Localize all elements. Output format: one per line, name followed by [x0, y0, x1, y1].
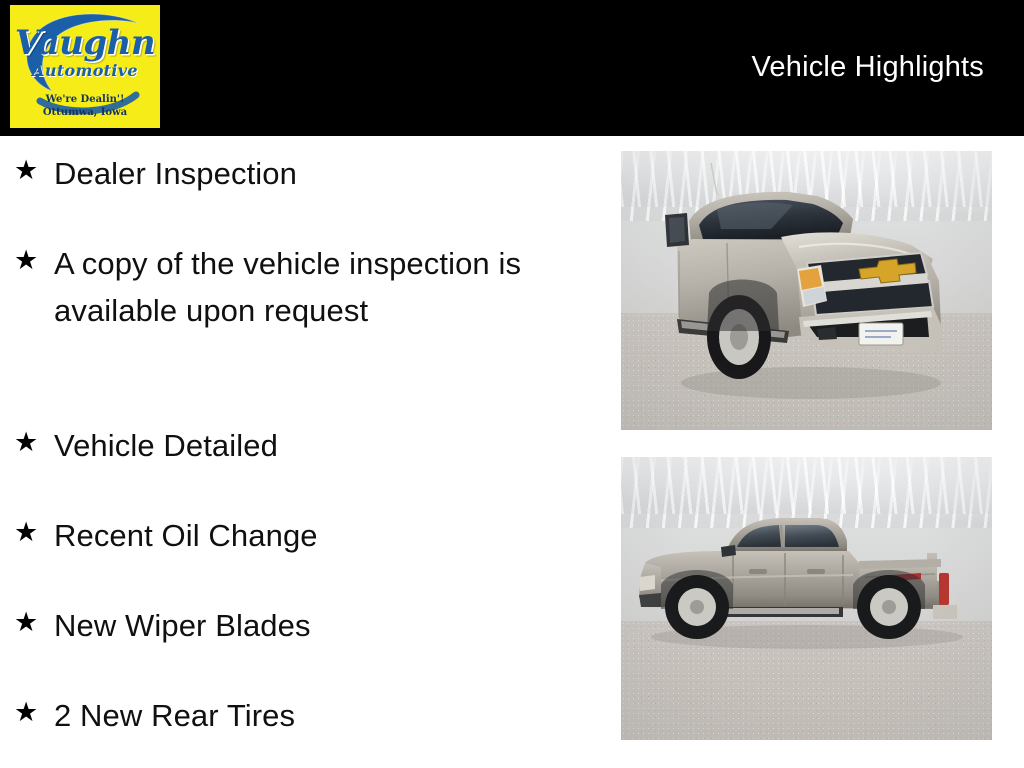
- list-item: ★ Vehicle Detailed: [14, 422, 574, 469]
- photo-vignette: [621, 457, 992, 740]
- dealer-logo[interactable]: Vaughn Automotive We're Dealin'! Ottumwa…: [10, 5, 160, 128]
- star-bullet-icon: ★: [14, 692, 54, 732]
- page-header: Vaughn Automotive We're Dealin'! Ottumwa…: [0, 0, 1024, 136]
- list-item-label: 2 New Rear Tires: [54, 692, 574, 739]
- list-item: ★ A copy of the vehicle inspection is av…: [14, 240, 574, 334]
- logo-tagline: We're Dealin'! Ottumwa, Iowa: [10, 93, 160, 119]
- vehicle-photo-side-profile[interactable]: [621, 457, 992, 740]
- star-bullet-icon: ★: [14, 240, 54, 280]
- list-item: ★ Recent Oil Change: [14, 512, 574, 559]
- list-item: ★ 2 New Rear Tires: [14, 692, 574, 739]
- list-item: ★ Dealer Inspection: [14, 150, 574, 197]
- star-bullet-icon: ★: [14, 602, 54, 642]
- star-bullet-icon: ★: [14, 150, 54, 190]
- showroom-scene: [621, 457, 992, 740]
- photo-vignette: [621, 151, 992, 430]
- list-item-label: A copy of the vehicle inspection is avai…: [54, 240, 574, 334]
- list-item-label: Vehicle Detailed: [54, 422, 574, 469]
- star-bullet-icon: ★: [14, 512, 54, 552]
- logo-subtitle-text: Automotive: [10, 62, 160, 80]
- list-item-label: Recent Oil Change: [54, 512, 574, 559]
- list-item: ★ New Wiper Blades: [14, 602, 574, 649]
- list-item-label: Dealer Inspection: [54, 150, 574, 197]
- logo-tagline-line-1: We're Dealin'!: [10, 93, 160, 106]
- page-title: Vehicle Highlights: [751, 50, 984, 84]
- logo-brand-text: Vaughn: [10, 25, 160, 61]
- star-bullet-icon: ★: [14, 422, 54, 462]
- logo-tagline-line-2: Ottumwa, Iowa: [10, 106, 160, 119]
- list-item-label: New Wiper Blades: [54, 602, 574, 649]
- vehicle-photo-front-three-quarter[interactable]: [621, 151, 992, 430]
- showroom-scene: [621, 151, 992, 430]
